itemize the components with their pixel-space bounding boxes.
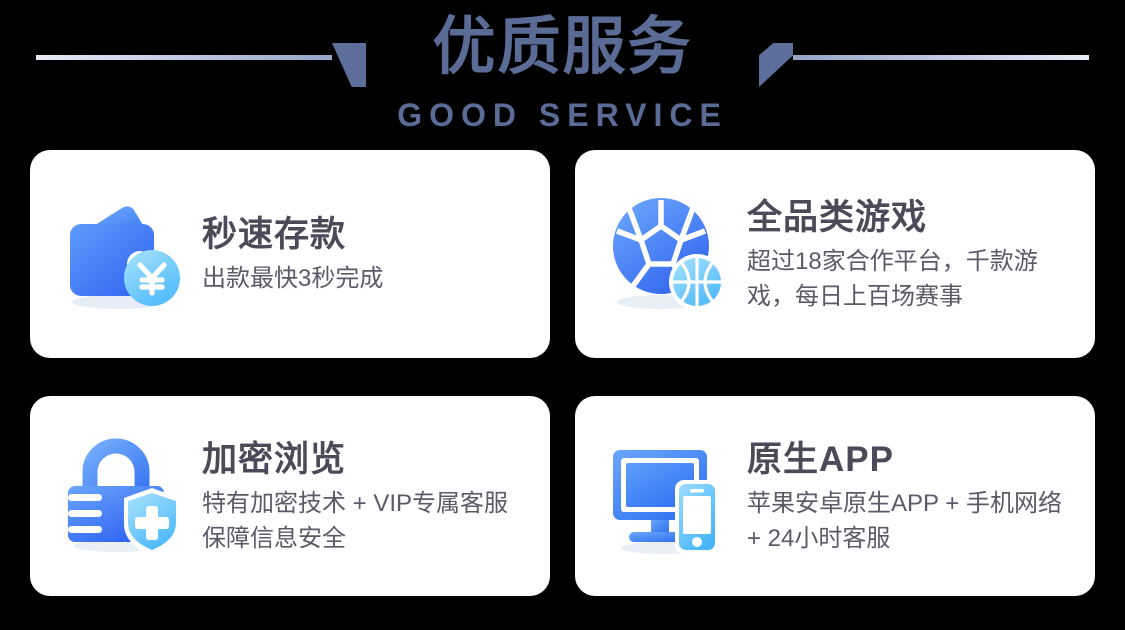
feature-card[interactable]: 全品类游戏 超过18家合作平台，千款游戏，每日上百场赛事	[575, 150, 1095, 358]
page-subtitle: GOOD SERVICE	[0, 96, 1125, 134]
feature-card-grid: 秒速存款 出款最快3秒完成	[30, 150, 1095, 600]
header: 优质服务 GOOD SERVICE	[0, 0, 1125, 140]
promo-banner: 优质服务 GOOD SERVICE	[0, 0, 1125, 630]
monitor-phone-icon-art	[605, 432, 733, 560]
monitor-phone-icon	[605, 432, 733, 560]
soccer-basketball-icon	[605, 190, 733, 318]
card-subtitle: 苹果安卓原生APP + 手机网络 + 24小时客服	[747, 486, 1073, 556]
card-title: 加密浏览	[202, 437, 528, 483]
card-text: 秒速存款 出款最快3秒完成	[202, 212, 528, 296]
card-text: 全品类游戏 超过18家合作平台，千款游戏，每日上百场赛事	[747, 195, 1073, 314]
card-title: 秒速存款	[202, 212, 528, 258]
card-subtitle: 出款最快3秒完成	[202, 261, 528, 296]
wallet-icon	[60, 190, 188, 318]
page-title: 优质服务	[0, 8, 1125, 86]
feature-card[interactable]: 秒速存款 出款最快3秒完成	[30, 150, 550, 358]
soccer-basketball-icon-art	[605, 190, 733, 318]
card-subtitle: 特有加密技术 + VIP专属客服保障信息安全	[202, 486, 528, 556]
wallet-icon-art	[60, 190, 188, 318]
card-text: 加密浏览 特有加密技术 + VIP专属客服保障信息安全	[202, 437, 528, 556]
card-subtitle: 超过18家合作平台，千款游戏，每日上百场赛事	[747, 244, 1073, 314]
feature-card[interactable]: 原生APP 苹果安卓原生APP + 手机网络 + 24小时客服	[575, 396, 1095, 596]
card-title: 原生APP	[747, 437, 1073, 483]
card-text: 原生APP 苹果安卓原生APP + 手机网络 + 24小时客服	[747, 437, 1073, 556]
lock-shield-icon-art	[60, 432, 188, 560]
feature-card[interactable]: 加密浏览 特有加密技术 + VIP专属客服保障信息安全	[30, 396, 550, 596]
card-title: 全品类游戏	[747, 195, 1073, 241]
lock-shield-icon	[60, 432, 188, 560]
